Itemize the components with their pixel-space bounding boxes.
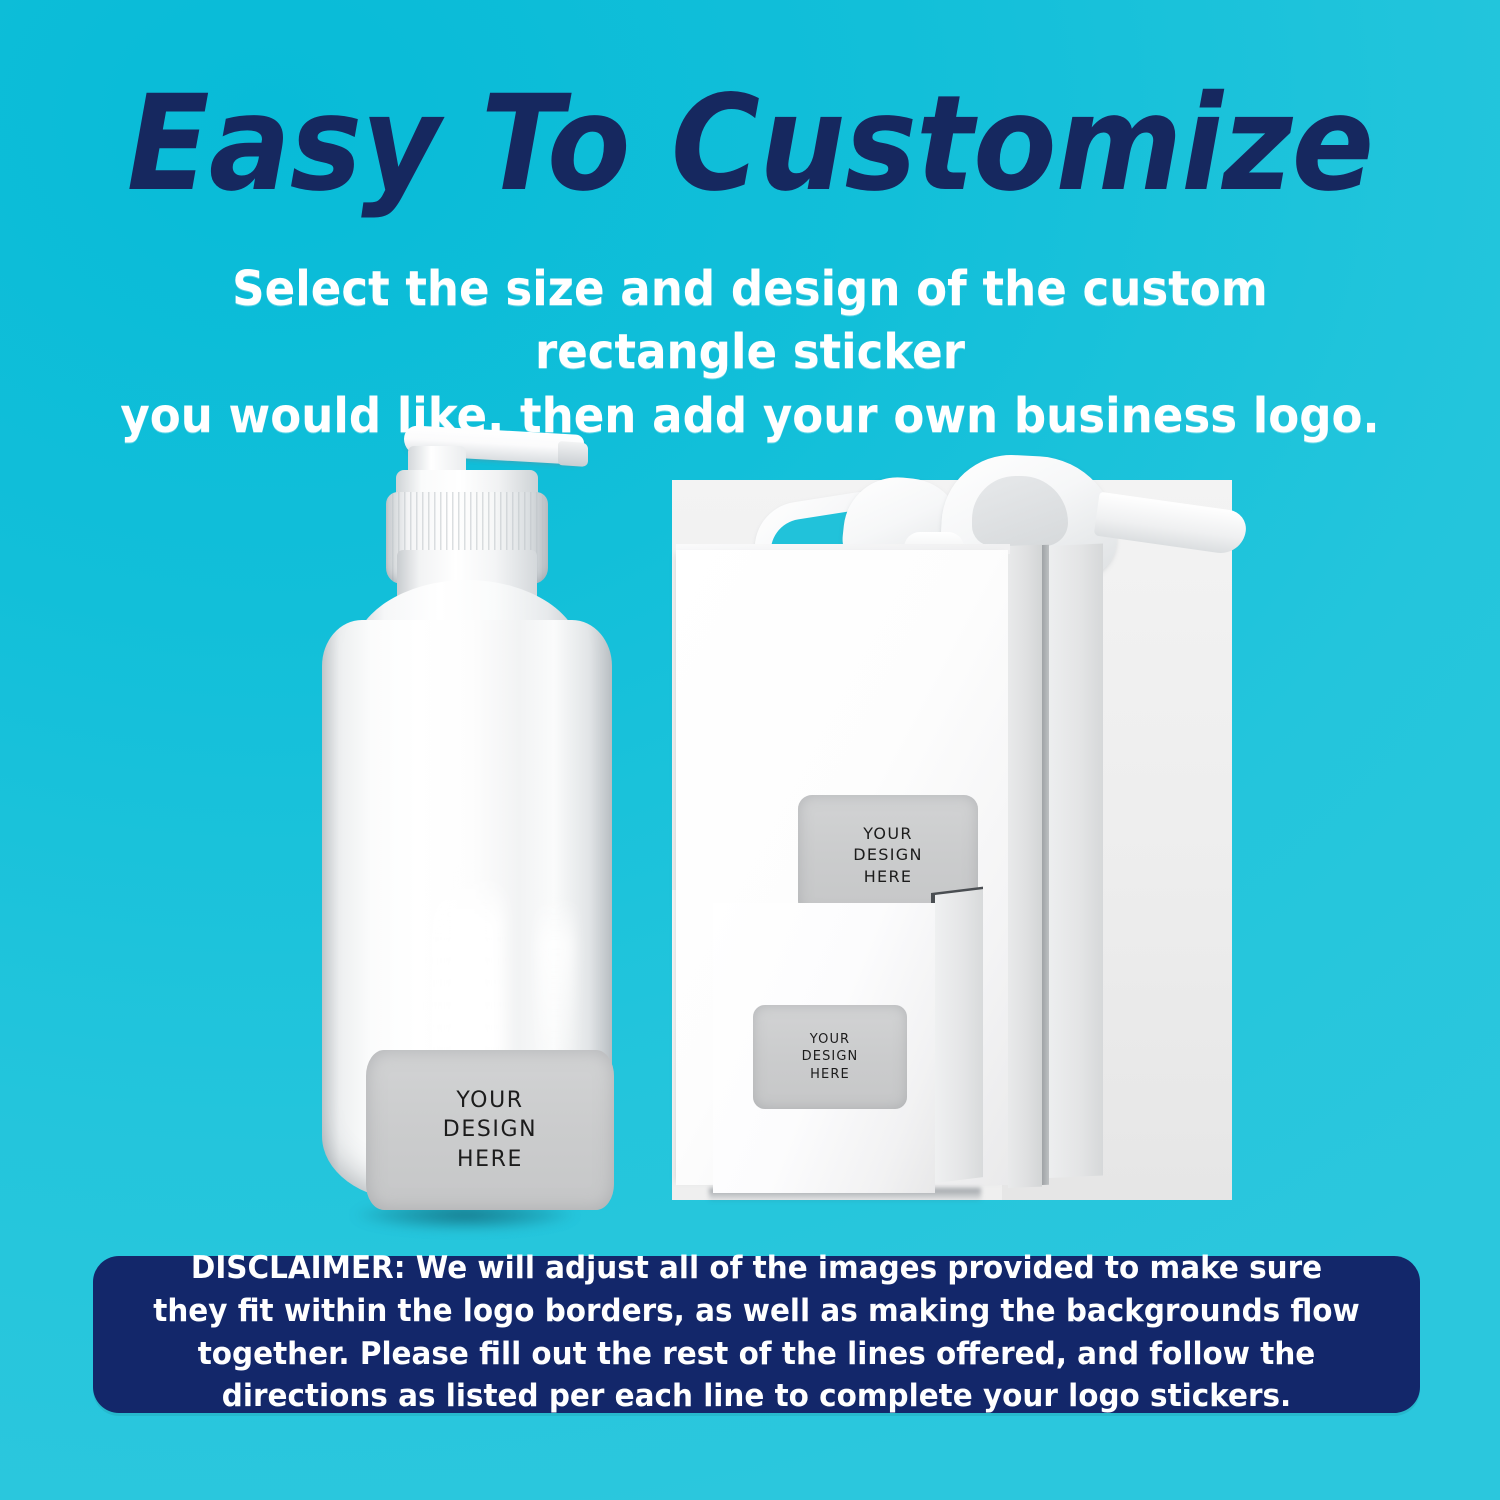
sticker-line-1: YOUR — [810, 1031, 850, 1048]
small-box-front-panel: YOUR DESIGN HERE — [713, 903, 935, 1193]
sticker-line-1: YOUR — [863, 823, 913, 844]
sticker-line-2: DESIGN — [802, 1048, 859, 1065]
subtitle-line-1: Select the size and design of the custom… — [120, 258, 1380, 385]
bottle-body: YOUR DESIGN HERE — [322, 620, 612, 1200]
disclaimer-text: DISCLAIMER: We will adjust all of the im… — [153, 1247, 1360, 1418]
gift-box-lid-side — [1049, 544, 1103, 1178]
sticker-label-small-box: YOUR DESIGN HERE — [753, 1005, 907, 1109]
sticker-line-2: DESIGN — [443, 1115, 537, 1144]
disclaimer-banner: DISCLAIMER: We will adjust all of the im… — [93, 1256, 1420, 1413]
sticker-line-3: HERE — [457, 1145, 523, 1174]
sticker-line-1: YOUR — [456, 1086, 523, 1115]
ribbon-tail — [1094, 492, 1249, 556]
small-box-side-panel — [935, 889, 983, 1183]
pump-bottle-mockup: YOUR DESIGN HERE — [300, 430, 630, 1230]
product-mockup-scene: YOUR DESIGN HERE YOUR DESIGN HERE — [0, 390, 1500, 1220]
disclaimer-label: DISCLAIMER: — [191, 1250, 406, 1286]
sticker-line-2: DESIGN — [853, 844, 922, 865]
pump-nozzle-tip — [558, 441, 588, 467]
small-box-mockup: YOUR DESIGN HERE — [713, 895, 1013, 1200]
sticker-line-3: HERE — [810, 1066, 850, 1083]
page-title: Easy To Customize — [60, 78, 1440, 210]
sticker-label-bottle: YOUR DESIGN HERE — [366, 1050, 614, 1210]
promo-banner: Easy To Customize Select the size and de… — [0, 0, 1500, 1500]
sticker-line-3: HERE — [864, 866, 913, 887]
gift-box-side-panel — [1008, 545, 1042, 1188]
gift-box-lid-seam — [1042, 545, 1049, 1185]
